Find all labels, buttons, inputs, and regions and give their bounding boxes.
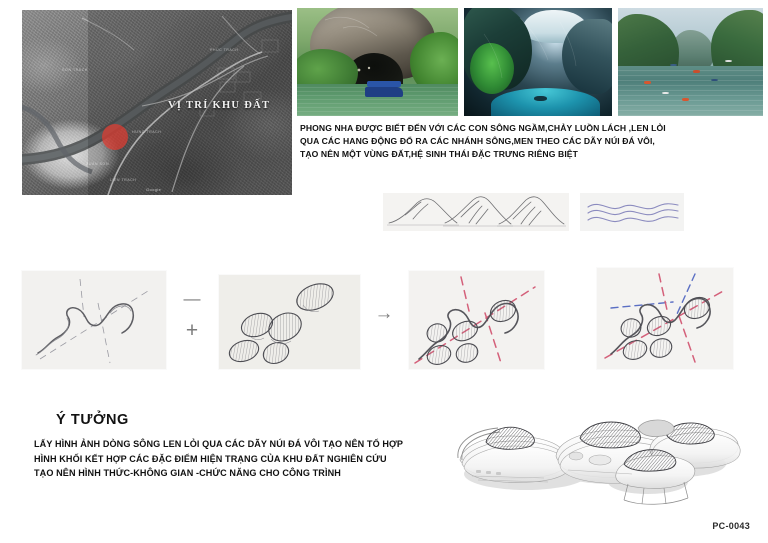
intro-line: QUA CÁC HANG ĐỘNG ĐỔ RA CÁC NHÁNH SÔNG,M… xyxy=(300,135,752,148)
intro-line: TẠO NÊN MỘT VÙNG ĐẤT,HỆ SINH THÁI ĐẶC TR… xyxy=(300,148,752,161)
idea-section-title: Ý TƯỞNG xyxy=(56,412,129,428)
map-place-name: SƠN TRẠCH xyxy=(62,68,88,72)
concept-diagram-row: — + xyxy=(0,263,768,375)
operator-plus: + xyxy=(172,319,212,343)
diagram-panel-final-massing xyxy=(597,268,733,369)
map-credit: Google xyxy=(146,187,161,192)
idea-line: TẠO NÊN HÌNH THỨC-KHÔNG GIAN -CHỨC NĂNG … xyxy=(34,466,454,481)
site-location-map: VỊ TRÍ KHU ĐẤT Google PHÚC TRẠCH SƠN TRẠ… xyxy=(22,10,292,195)
idea-line: LẤY HÌNH ẢNH DÒNG SÔNG LEN LỎI QUA CÁC D… xyxy=(34,437,454,452)
map-place-name: HƯNG TRẠCH xyxy=(132,130,161,134)
operator-arrow: → xyxy=(362,303,406,325)
site-map-label: VỊ TRÍ KHU ĐẤT xyxy=(168,100,270,111)
operator-minus: — xyxy=(172,289,212,309)
diagram-panel-stone-masses xyxy=(219,275,360,369)
photo-cave-entrance-boat xyxy=(297,8,458,116)
river-wave-sketch xyxy=(580,193,684,231)
diagram-panel-combined-massing xyxy=(409,271,544,369)
photo-river-kayaks xyxy=(618,8,763,116)
idea-paragraph: LẤY HÌNH ẢNH DÒNG SÔNG LEN LỎI QUA CÁC D… xyxy=(34,437,454,481)
sheet-code: PC-0043 xyxy=(712,521,750,531)
idea-line: HÌNH KHỐI KẾT HỢP CÁC ĐẶC ĐIỂM HIỆN TRẠN… xyxy=(34,452,454,467)
organic-massing-3d-model xyxy=(452,412,752,516)
diagram-panel-river-line xyxy=(22,271,166,369)
phong-nha-photo-strip xyxy=(297,8,763,116)
mountain-range-sketch xyxy=(383,193,569,231)
map-place-name: PHÚC TRẠCH xyxy=(210,48,239,52)
intro-line: PHONG NHA ĐƯỢC BIẾT ĐẾN VỚI CÁC CON SÔNG… xyxy=(300,122,752,135)
photo-doline-skylight xyxy=(464,8,612,116)
intro-paragraph: PHONG NHA ĐƯỢC BIẾT ĐẾN VỚI CÁC CON SÔNG… xyxy=(300,122,752,162)
map-place-name: LIÊN TRẠCH xyxy=(110,178,136,182)
site-location-marker xyxy=(102,124,128,150)
presentation-board: VỊ TRÍ KHU ĐẤT Google PHÚC TRẠCH SƠN TRẠ… xyxy=(0,0,768,543)
map-place-name: XUÂN SƠN xyxy=(86,162,109,166)
